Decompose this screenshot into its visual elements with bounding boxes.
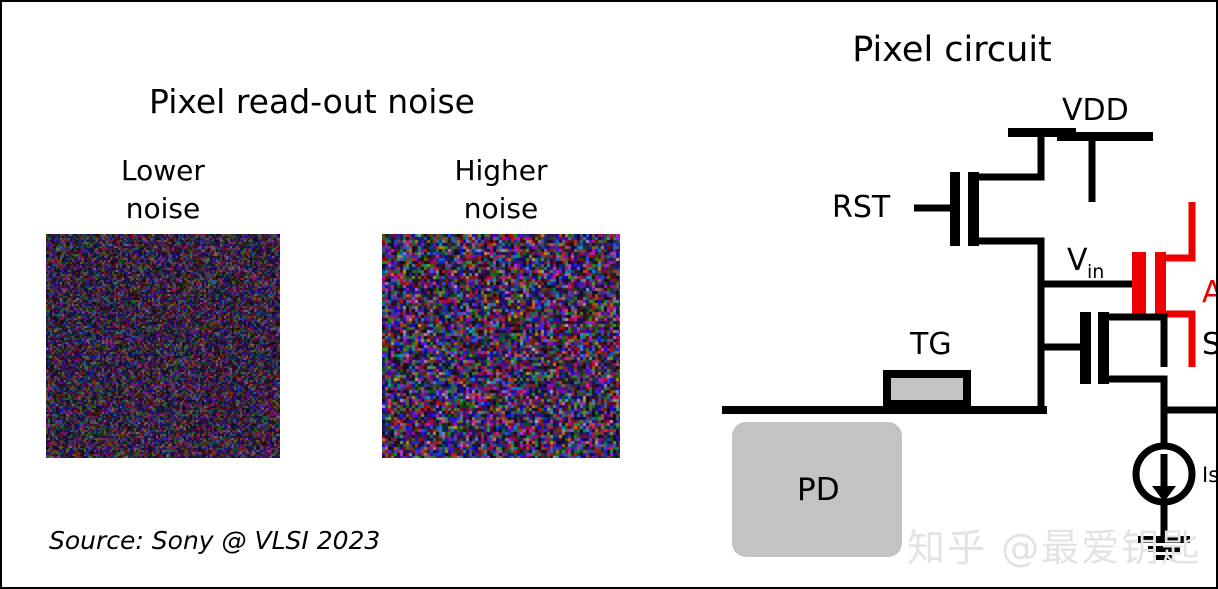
tg-label: TG [909, 327, 952, 362]
noise-caption-lower: Lower noise [46, 152, 280, 228]
noise-image-higher [382, 234, 620, 458]
photodiode-label: PD [797, 472, 840, 508]
rst-source-wire [974, 241, 1041, 288]
sel-gate-plate [1080, 312, 1091, 384]
rst-channel-bar [968, 172, 979, 246]
rst-drain-rail [1008, 128, 1076, 137]
sel-label: SEL [1202, 327, 1218, 362]
amp-gate-plate [1132, 252, 1146, 320]
rst-drain-wire [974, 132, 1041, 177]
noise-caption-higher: Higher noise [382, 152, 620, 228]
slide-canvas: Pixel read-out noise Lower noise Higher … [0, 0, 1218, 589]
sel-drain-wire [1104, 317, 1164, 367]
sel-channel-bar [1098, 312, 1109, 384]
vdd-label: VDD [1062, 93, 1129, 128]
noise-image-lower [46, 234, 280, 458]
rst-label: RST [832, 190, 891, 225]
vin-subscript: in [1087, 261, 1104, 283]
vin-label: V [1067, 243, 1088, 278]
current-source-label: Is [1202, 463, 1218, 487]
substrate-surface-line [722, 406, 1047, 414]
zhihu-watermark: 知乎 @最爱钥匙 [907, 517, 1201, 572]
pixel-circuit-diagram: VDD RST V in AMP [702, 62, 1218, 562]
tg-gate-block [887, 374, 967, 404]
source-attribution: Source: Sony @ VLSI 2023 [49, 526, 380, 555]
noise-panel-title: Pixel read-out noise [2, 82, 622, 121]
amp-label: AMP [1202, 275, 1218, 310]
amp-channel-bar [1155, 252, 1166, 320]
amp-drain-wire [1161, 202, 1192, 258]
rst-gate-plate [950, 172, 960, 246]
